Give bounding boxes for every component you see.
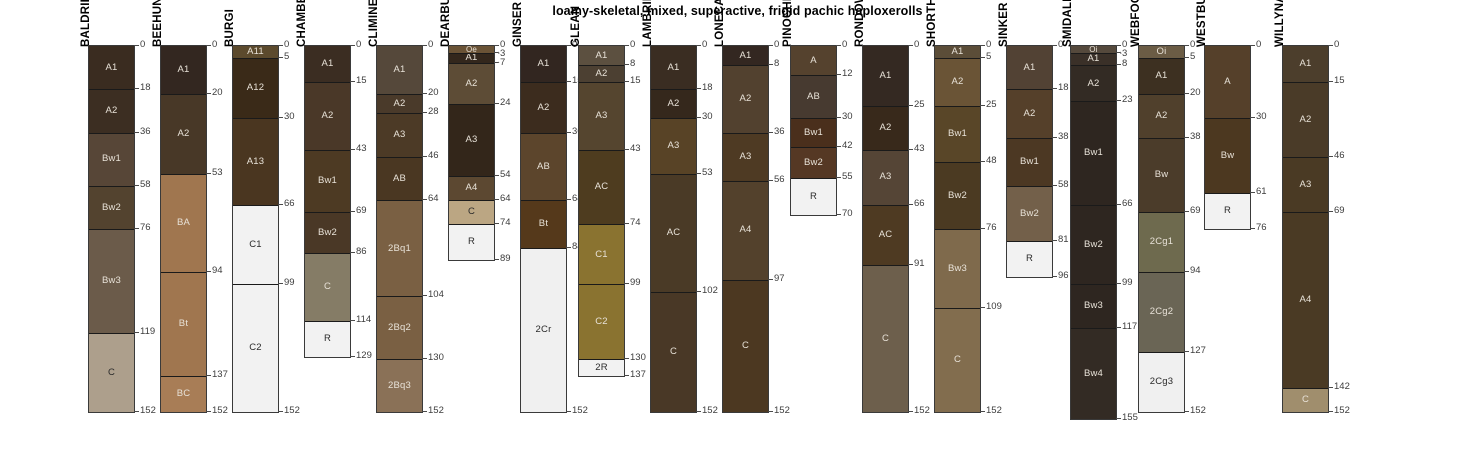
horizon-label: AC <box>879 230 893 240</box>
horizon-boundary-line <box>305 253 350 254</box>
horizon-label: AB <box>537 162 550 172</box>
depth-tick <box>1250 45 1255 46</box>
horizon-label: R <box>1026 254 1033 264</box>
profile-name-label: BURGI <box>224 9 236 47</box>
horizon-label: A1 <box>595 51 607 61</box>
soil-horizon: A2 <box>863 106 908 149</box>
horizon-boundary-line <box>579 359 624 360</box>
depth-tick-label: 119 <box>140 327 155 337</box>
depth-tick-label: 23 <box>1122 95 1133 105</box>
horizon-boundary-line <box>1071 284 1116 285</box>
horizon-label: A2 <box>1155 111 1167 121</box>
profile-column: ABwR <box>1204 45 1251 230</box>
depth-tick-label: 102 <box>702 286 718 296</box>
profile-name-label: WILLYNAT <box>1274 0 1286 47</box>
horizon-label: A4 <box>1299 295 1311 305</box>
depth-tick-label: 0 <box>1190 40 1195 50</box>
horizon-label: 2Cg1 <box>1150 237 1174 247</box>
horizon-label: A3 <box>879 172 891 182</box>
soil-horizon: AB <box>521 133 566 200</box>
depth-tick-label: 0 <box>986 40 991 50</box>
soil-horizon: A1 <box>651 46 696 89</box>
depth-tick <box>1052 137 1057 138</box>
depth-tick-label: 0 <box>1334 40 1339 50</box>
depth-tick-label: 30 <box>284 112 295 122</box>
depth-tick <box>1184 411 1189 412</box>
horizon-boundary-line <box>233 118 278 119</box>
depth-tick-label: 20 <box>428 88 439 98</box>
horizon-boundary-line <box>161 376 206 377</box>
soil-horizon: A2 <box>305 82 350 149</box>
depth-tick-label: 130 <box>428 353 444 363</box>
horizon-boundary-line <box>233 205 278 206</box>
soil-horizon: 2Cr <box>521 248 566 412</box>
horizon-boundary-line <box>1007 89 1052 90</box>
soil-horizon: A1 <box>377 46 422 94</box>
soil-horizon: A1 <box>161 46 206 94</box>
depth-tick-label: 152 <box>702 406 718 416</box>
depth-tick <box>1328 45 1333 46</box>
soil-horizon: C <box>89 333 134 412</box>
horizon-boundary-line <box>449 53 494 54</box>
depth-tick <box>696 411 701 412</box>
profile-column: OiA1A2Bw1Bw2Bw3Bw4 <box>1070 45 1117 420</box>
depth-tick <box>350 211 355 212</box>
horizon-label: R <box>324 334 331 344</box>
soil-horizon: A3 <box>863 150 908 205</box>
soil-horizon: A1 <box>579 46 624 65</box>
horizon-label: C <box>1302 395 1309 405</box>
depth-tick <box>422 112 427 113</box>
depth-tick <box>908 411 913 412</box>
depth-tick <box>278 117 283 118</box>
depth-tick-label: 24 <box>500 98 511 108</box>
depth-tick-label: 38 <box>1190 132 1201 142</box>
depth-tick <box>350 252 355 253</box>
profile-name-label: GLEAN <box>570 6 582 47</box>
profile-name-label: SINKER <box>998 2 1010 47</box>
horizon-label: Oi <box>1089 46 1097 53</box>
horizon-label: A1 <box>1299 59 1311 69</box>
depth-tick-label: 53 <box>212 168 223 178</box>
depth-tick-label: 66 <box>284 199 295 209</box>
profile-column: A1A2A3ACC <box>650 45 697 413</box>
horizon-label: 2Bq1 <box>388 244 411 254</box>
horizon-boundary-line <box>1007 186 1052 187</box>
depth-tick-label: 20 <box>212 88 223 98</box>
depth-tick-label: 117 <box>1122 322 1137 332</box>
depth-tick <box>908 149 913 150</box>
horizon-boundary-line <box>579 65 624 66</box>
depth-tick <box>1184 351 1189 352</box>
soil-horizon: Bw <box>1139 138 1184 213</box>
profile-name-label: PINOCHLE <box>782 0 794 47</box>
depth-tick-label: 0 <box>1256 40 1261 50</box>
depth-tick <box>1250 228 1255 229</box>
soil-horizon: Bw2 <box>89 186 134 229</box>
horizon-boundary-line <box>863 106 908 107</box>
depth-tick <box>696 117 701 118</box>
depth-tick-label: 18 <box>702 83 713 93</box>
depth-tick <box>422 295 427 296</box>
horizon-label: A1 <box>537 59 549 69</box>
horizon-label: A2 <box>1087 79 1099 89</box>
depth-tick <box>350 81 355 82</box>
horizon-boundary-line <box>723 280 768 281</box>
horizon-boundary-line <box>89 186 134 187</box>
soil-horizon: Oe <box>449 46 494 53</box>
soil-horizon: C1 <box>233 205 278 284</box>
horizon-boundary-line <box>449 176 494 177</box>
depth-tick <box>206 271 211 272</box>
depth-tick <box>1052 240 1057 241</box>
horizon-boundary-line <box>305 321 350 322</box>
horizon-label: A4 <box>739 225 751 235</box>
horizon-label: A3 <box>465 135 477 145</box>
soil-horizon: 2Bq1 <box>377 200 422 296</box>
depth-tick-label: 7 <box>500 58 505 68</box>
depth-tick-label: 3 <box>1122 49 1127 59</box>
soil-horizon: C2 <box>579 284 624 359</box>
soil-horizon: Bw <box>1205 118 1250 193</box>
depth-tick-label: 0 <box>284 40 289 50</box>
depth-tick <box>908 45 913 46</box>
depth-tick <box>278 57 283 58</box>
horizon-label: C <box>954 355 961 365</box>
depth-tick-label: 152 <box>1190 406 1206 416</box>
horizon-boundary-line <box>377 296 422 297</box>
depth-tick-label: 30 <box>1256 112 1267 122</box>
depth-tick <box>836 214 841 215</box>
depth-tick-label: 142 <box>1334 382 1350 392</box>
soil-horizon: A <box>791 46 836 75</box>
soil-horizon: A1 <box>1071 53 1116 65</box>
depth-tick <box>1328 81 1333 82</box>
soil-horizon: C <box>449 200 494 224</box>
horizon-label: A1 <box>739 51 751 61</box>
profile-column: OiA1A2Bw2Cg12Cg22Cg3 <box>1138 45 1185 413</box>
depth-tick <box>980 57 985 58</box>
horizon-label: 2R <box>595 363 608 373</box>
depth-tick <box>624 81 629 82</box>
soil-horizon: A11 <box>233 46 278 58</box>
horizon-label: A2 <box>465 79 477 89</box>
horizon-label: Bw1 <box>804 128 823 138</box>
horizon-label: A13 <box>247 157 265 167</box>
soil-horizon: C <box>863 265 908 412</box>
depth-tick-label: 25 <box>986 100 997 110</box>
soil-horizon: A3 <box>449 104 494 176</box>
soil-horizon: A1 <box>1139 58 1184 94</box>
horizon-label: Oi <box>1157 47 1167 57</box>
depth-tick <box>134 88 139 89</box>
soil-horizon: Oi <box>1139 46 1184 58</box>
depth-tick <box>206 411 211 412</box>
soil-horizon: AC <box>863 205 908 265</box>
depth-tick-label: 8 <box>774 59 779 69</box>
soil-horizon: R <box>449 224 494 260</box>
profile-column: A1A2A3A4C <box>1282 45 1329 413</box>
depth-tick <box>696 88 701 89</box>
horizon-boundary-line <box>89 89 134 90</box>
horizon-boundary-line <box>1139 58 1184 59</box>
horizon-boundary-line <box>1205 118 1250 119</box>
depth-tick-label: 0 <box>630 40 635 50</box>
depth-tick <box>1184 211 1189 212</box>
depth-tick <box>134 228 139 229</box>
depth-tick-label: 30 <box>702 112 713 122</box>
horizon-label: A1 <box>951 47 963 57</box>
horizon-boundary-line <box>1139 272 1184 273</box>
depth-tick-label: 58 <box>140 180 151 190</box>
depth-tick <box>566 247 571 248</box>
profile-column: A1A2Bw1Bw2Bw3C <box>88 45 135 413</box>
depth-tick <box>768 45 773 46</box>
soil-horizon: A1 <box>449 53 494 63</box>
soil-horizon: R <box>1205 193 1250 229</box>
horizon-label: A2 <box>177 129 189 139</box>
depth-tick-label: 96 <box>1058 271 1069 281</box>
depth-tick <box>624 149 629 150</box>
depth-tick-label: 43 <box>630 144 641 154</box>
soil-horizon: R <box>305 321 350 357</box>
depth-tick-label: 94 <box>212 266 223 276</box>
depth-tick-label: 15 <box>1334 76 1345 86</box>
horizon-boundary-line <box>521 133 566 134</box>
soil-horizon: A2 <box>89 89 134 132</box>
depth-tick <box>836 74 841 75</box>
horizon-label: A1 <box>879 71 891 81</box>
horizon-boundary-line <box>377 200 422 201</box>
depth-tick-label: 152 <box>140 406 156 416</box>
horizon-boundary-line <box>233 284 278 285</box>
horizon-boundary-line <box>1007 138 1052 139</box>
horizon-label: 2Cg3 <box>1150 377 1174 387</box>
depth-tick-label: 0 <box>774 40 779 50</box>
depth-tick <box>278 411 283 412</box>
soil-horizon: A3 <box>377 113 422 156</box>
depth-tick-label: 70 <box>842 209 853 219</box>
depth-tick-label: 64 <box>500 194 511 204</box>
depth-tick <box>1116 204 1121 205</box>
soil-horizon: Bw2 <box>1007 186 1052 241</box>
soil-horizon: A2 <box>1007 89 1052 137</box>
horizon-label: A2 <box>879 123 891 133</box>
depth-tick <box>1184 271 1189 272</box>
depth-tick <box>624 358 629 359</box>
depth-tick <box>1328 387 1333 388</box>
depth-tick <box>1328 211 1333 212</box>
depth-tick <box>908 264 913 265</box>
soil-horizon: C <box>305 253 350 320</box>
horizon-label: A1 <box>321 59 333 69</box>
depth-tick-label: 0 <box>212 40 217 50</box>
depth-tick-label: 127 <box>1190 346 1206 356</box>
soil-horizon: Bw2 <box>791 147 836 178</box>
depth-tick-label: 130 <box>630 353 646 363</box>
profile-name-label: WEBFOOT <box>1130 0 1142 47</box>
depth-tick <box>350 320 355 321</box>
horizon-boundary-line <box>791 118 836 119</box>
horizon-label: A3 <box>393 130 405 140</box>
horizon-boundary-line <box>1139 138 1184 139</box>
soil-horizon: A2 <box>935 58 980 106</box>
profile-column: A1A2Bw1Bw2R <box>1006 45 1053 278</box>
depth-tick-label: 91 <box>914 259 925 269</box>
horizon-boundary-line <box>723 133 768 134</box>
depth-tick <box>422 199 427 200</box>
soil-horizon: BA <box>161 174 206 273</box>
horizon-label: A1 <box>1087 54 1099 64</box>
horizon-boundary-line <box>305 82 350 83</box>
depth-tick <box>278 283 283 284</box>
horizon-label: C2 <box>249 343 262 353</box>
depth-tick-label: 137 <box>212 370 228 380</box>
horizon-label: A1 <box>1023 63 1035 73</box>
horizon-label: A2 <box>739 94 751 104</box>
depth-tick-label: 129 <box>356 351 372 361</box>
horizon-boundary-line <box>1283 388 1328 389</box>
horizon-label: C <box>324 282 331 292</box>
horizon-label: Bw2 <box>1084 240 1103 250</box>
horizon-boundary-line <box>521 82 566 83</box>
horizon-label: C <box>742 341 749 351</box>
horizon-label: BC <box>177 389 191 399</box>
soil-horizon: A2 <box>377 94 422 113</box>
depth-tick <box>1116 327 1121 328</box>
soil-horizon: C <box>935 308 980 412</box>
soil-horizon: C2 <box>233 284 278 412</box>
depth-tick <box>134 185 139 186</box>
soil-horizon: A1 <box>723 46 768 65</box>
soil-horizon: AC <box>651 174 696 292</box>
depth-tick <box>350 149 355 150</box>
depth-tick <box>696 291 701 292</box>
profile-name-label: BALDRIDGE <box>80 0 92 47</box>
horizon-boundary-line <box>161 174 206 175</box>
depth-tick-label: 25 <box>914 100 925 110</box>
horizon-boundary-line <box>1071 328 1116 329</box>
soil-horizon: 2Cg3 <box>1139 352 1184 412</box>
depth-tick-label: 0 <box>428 40 433 50</box>
depth-tick <box>494 223 499 224</box>
depth-tick-label: 5 <box>986 52 991 62</box>
depth-tick <box>1184 57 1189 58</box>
depth-tick-label: 43 <box>356 144 367 154</box>
profile-column: A1A2Bw1Bw2CR <box>304 45 351 358</box>
depth-tick <box>980 105 985 106</box>
horizon-label: 2Cr <box>536 325 552 335</box>
soil-horizon: A4 <box>723 181 768 280</box>
soil-horizon: C <box>723 280 768 412</box>
profile-column: A1A2Bw1Bw2Bw3C <box>934 45 981 413</box>
horizon-label: A12 <box>247 83 265 93</box>
horizon-label: A2 <box>321 111 333 121</box>
depth-tick-label: 69 <box>1334 206 1345 216</box>
depth-tick-label: 46 <box>1334 151 1345 161</box>
depth-tick-label: 8 <box>630 59 635 69</box>
horizon-label: A4 <box>465 183 477 193</box>
profile-name-label: LONECABIN <box>714 0 726 47</box>
horizon-label: 2Bq3 <box>388 381 411 391</box>
depth-tick <box>350 356 355 357</box>
soil-horizon: R <box>1007 241 1052 277</box>
profile-name-label: WESTBUTTE <box>1196 0 1208 47</box>
depth-tick-label: 104 <box>428 290 444 300</box>
horizon-label: R <box>468 237 475 247</box>
depth-tick-label: 5 <box>1190 52 1195 62</box>
horizon-label: A2 <box>105 106 117 116</box>
depth-tick-label: 0 <box>356 40 361 50</box>
depth-tick-label: 76 <box>1256 223 1267 233</box>
horizon-boundary-line <box>935 58 980 59</box>
soil-horizon: C <box>651 292 696 412</box>
horizon-boundary-line <box>89 133 134 134</box>
depth-tick <box>768 64 773 65</box>
soil-horizon: AB <box>377 157 422 200</box>
depth-tick-label: 152 <box>1334 406 1350 416</box>
soil-horizon: A2 <box>161 94 206 173</box>
depth-tick-label: 74 <box>500 218 511 228</box>
horizon-boundary-line <box>1283 157 1328 158</box>
page-title: loamy-skeletal, mixed, superactive, frig… <box>0 4 1475 18</box>
depth-tick <box>1052 88 1057 89</box>
horizon-boundary-line <box>89 333 134 334</box>
horizon-label: Bw1 <box>318 176 337 186</box>
horizon-boundary-line <box>377 157 422 158</box>
depth-tick <box>1116 418 1121 419</box>
depth-tick <box>422 93 427 94</box>
horizon-label: A2 <box>595 69 607 79</box>
depth-tick-label: 76 <box>986 223 997 233</box>
soil-horizon: A1 <box>1007 46 1052 89</box>
soil-horizon: AB <box>791 75 836 118</box>
depth-tick <box>350 45 355 46</box>
horizon-label: R <box>810 192 817 202</box>
depth-tick <box>768 279 773 280</box>
soil-horizon: Bw1 <box>1071 101 1116 205</box>
soil-horizon: Bw1 <box>791 118 836 147</box>
soil-horizon: Bw2 <box>305 212 350 253</box>
horizon-boundary-line <box>579 284 624 285</box>
horizon-label: Bw2 <box>1020 209 1039 219</box>
soil-horizon: A3 <box>651 118 696 173</box>
depth-tick-label: 42 <box>842 141 853 151</box>
horizon-label: C <box>882 334 889 344</box>
depth-tick <box>1116 283 1121 284</box>
soil-horizon: Bt <box>521 200 566 248</box>
depth-tick-label: 152 <box>774 406 790 416</box>
horizon-boundary-line <box>449 104 494 105</box>
soil-horizon: A2 <box>1283 82 1328 157</box>
horizon-boundary-line <box>377 359 422 360</box>
soil-horizon: A2 <box>723 65 768 132</box>
depth-tick <box>768 180 773 181</box>
depth-tick <box>134 45 139 46</box>
soil-profile-figure: loamy-skeletal, mixed, superactive, frig… <box>0 0 1475 450</box>
horizon-label: Bw <box>1155 170 1169 180</box>
depth-tick <box>566 199 571 200</box>
depth-tick <box>1184 137 1189 138</box>
depth-tick-label: 0 <box>702 40 707 50</box>
horizon-label: C <box>108 368 115 378</box>
horizon-label: C1 <box>249 240 262 250</box>
soil-horizon: A3 <box>723 133 768 181</box>
depth-tick-label: 66 <box>914 199 925 209</box>
horizon-boundary-line <box>935 106 980 107</box>
horizon-label: C <box>468 207 475 217</box>
soil-horizon: A2 <box>651 89 696 118</box>
